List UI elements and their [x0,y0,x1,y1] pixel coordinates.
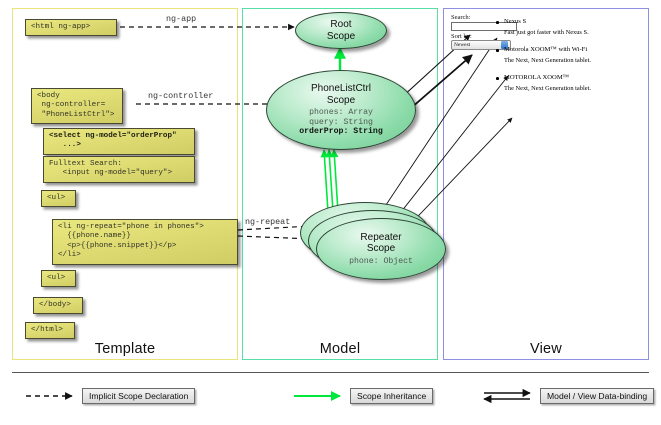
view-pane: Search: Sort by: Newest Nexus S Fast jus… [451,14,643,344]
ul-open-box[interactable]: <ul> [41,190,76,207]
legend-divider [12,372,649,373]
body-ng-controller-box[interactable]: <body ng-controller= "PhoneListCtrl"> [31,88,123,124]
li-ng-repeat-box[interactable]: <li ng-repeat="phone in phones"> {{phone… [52,219,238,265]
phone-list-ctrl-scope-ellipse[interactable]: PhoneListCtrl Scope phones: Array query:… [266,70,416,150]
root-scope-label: Root Scope [327,19,355,42]
fulltext-search-input-box[interactable]: Fulltext Search: <input ng-model="query"… [43,156,195,183]
diagram-canvas: Template Model View [0,0,661,425]
dashed-arrow-icon [24,389,82,403]
legend-label: Model / View Data-binding [540,388,654,404]
root-scope-ellipse[interactable]: Root Scope [295,12,387,49]
phone-list: Nexus S Fast just got faster with Nexus … [495,18,643,102]
legend-label: Implicit Scope Declaration [82,388,195,404]
legend-model-view-data-binding: Model / View Data-binding [482,388,654,404]
legend-scope-inheritance: Scope Inheritance [292,388,433,404]
html-close-box[interactable]: </html> [25,322,75,339]
html-ng-app-box[interactable]: <html ng-app> [25,19,117,36]
ul-close-box[interactable]: <ul> [41,270,76,287]
sort-by-selected-value: Newest [454,42,470,48]
repeater-scope-props: phone: Object [349,257,413,267]
edge-label-ng-app: ng-app [166,14,196,24]
column-label-template: Template [13,341,237,357]
column-model: Model [242,8,438,360]
select-ng-model-box[interactable]: <select ng-model="orderProp" ...> [43,128,195,155]
list-item[interactable]: Motorola XOOM™ with Wi-Fi The Next, Next… [495,46,643,64]
phone-name: MOTOROLA XOOM™ [495,74,643,81]
phone-list-ctrl-scope-orderprop: orderProp: String [299,127,383,137]
edge-label-ng-repeat: ng-repeat [245,217,290,227]
list-item[interactable]: MOTOROLA XOOM™ The Next, Next Generation… [495,74,643,92]
phone-snippet: Fast just got faster with Nexus S. [495,29,643,36]
legend-label: Scope Inheritance [350,388,433,404]
green-arrow-icon [292,389,350,403]
legend: Implicit Scope Declaration Scope Inherit… [12,372,649,417]
phone-name: Nexus S [495,18,643,25]
phone-snippet: The Next, Next Generation tablet. [495,57,643,64]
edge-label-ng-controller: ng-controller [148,91,213,101]
phone-snippet: The Next, Next Generation tablet. [495,85,643,92]
repeater-scope-label: Repeater Scope [360,232,401,255]
body-close-box[interactable]: </body> [33,297,83,314]
column-label-model: Model [243,341,437,357]
legend-implicit-scope-declaration: Implicit Scope Declaration [24,388,195,404]
list-item[interactable]: Nexus S Fast just got faster with Nexus … [495,18,643,36]
phone-name: Motorola XOOM™ with Wi-Fi [495,46,643,53]
phone-list-ctrl-scope-label: PhoneListCtrl Scope [311,83,371,106]
repeater-scope-ellipse[interactable]: Repeater Scope phone: Object [316,218,446,280]
double-arrow-icon [482,388,540,404]
phone-list-ctrl-scope-props: phones: Array query: String [309,108,373,127]
